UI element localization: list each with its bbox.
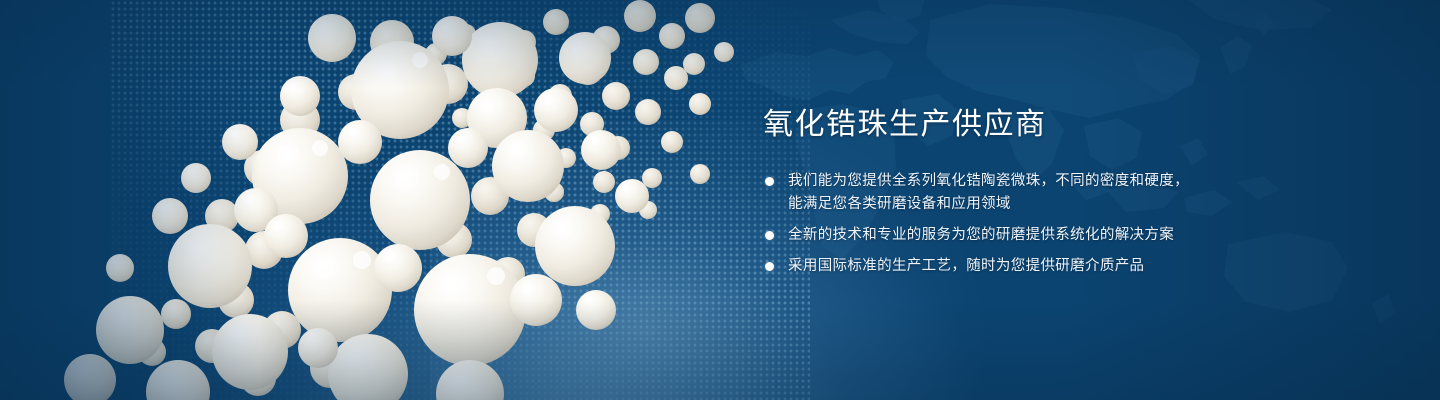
feature-list: 我们能为您提供全系列氧化锆陶瓷微珠，不同的密度和硬度， 能满足您各类研磨设备和应… bbox=[763, 170, 1363, 277]
feature-item: 全新的技术和专业的服务为您的研磨提供系统化的解决方案 bbox=[763, 224, 1363, 246]
bullet-dot-icon bbox=[765, 262, 774, 271]
banner-headline: 氧化锆珠生产供应商 bbox=[763, 106, 1363, 144]
bullet-dot-icon bbox=[765, 177, 774, 186]
feature-item: 我们能为您提供全系列氧化锆陶瓷微珠，不同的密度和硬度， 能满足您各类研磨设备和应… bbox=[763, 170, 1363, 215]
feature-line: 我们能为您提供全系列氧化锆陶瓷微珠，不同的密度和硬度， bbox=[788, 170, 1363, 192]
banner-copy: 氧化锆珠生产供应商 我们能为您提供全系列氧化锆陶瓷微珠，不同的密度和硬度， 能满… bbox=[763, 106, 1363, 277]
bullet-dot-icon bbox=[765, 231, 774, 240]
feature-item: 采用国际标准的生产工艺，随时为您提供研磨介质产品 bbox=[763, 255, 1363, 277]
feature-line: 能满足您各类研磨设备和应用领域 bbox=[788, 193, 1363, 215]
feature-line: 全新的技术和专业的服务为您的研磨提供系统化的解决方案 bbox=[788, 224, 1363, 246]
feature-line: 采用国际标准的生产工艺，随时为您提供研磨介质产品 bbox=[788, 255, 1363, 277]
hero-banner: 氧化锆珠生产供应商 我们能为您提供全系列氧化锆陶瓷微珠，不同的密度和硬度， 能满… bbox=[0, 0, 1440, 400]
